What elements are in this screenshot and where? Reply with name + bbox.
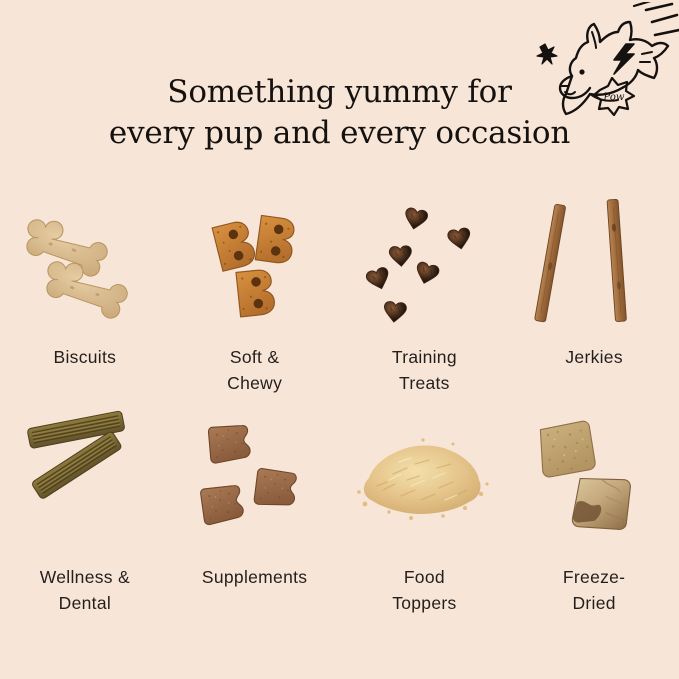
category-label: Freeze- Dried bbox=[563, 564, 625, 617]
chewy-b-treats-image bbox=[170, 196, 340, 336]
bone-biscuits-image bbox=[0, 196, 170, 336]
category-label: Soft & Chewy bbox=[227, 344, 282, 397]
category-item-jerkies[interactable]: Jerkies bbox=[509, 196, 679, 406]
category-label: Food Toppers bbox=[392, 564, 456, 617]
category-row-2: Wellness & Dental bbox=[0, 406, 679, 636]
dog-head-doodle: Pow bbox=[534, 2, 679, 127]
training-treats-image bbox=[340, 196, 510, 336]
category-item-training-treats[interactable]: Training Treats bbox=[340, 196, 510, 406]
category-item-wellness-dental[interactable]: Wellness & Dental bbox=[0, 406, 170, 636]
category-item-biscuits[interactable]: Biscuits bbox=[0, 196, 170, 406]
freeze-dried-pieces-image bbox=[509, 406, 679, 556]
category-label: Jerkies bbox=[565, 344, 623, 370]
category-item-soft-chewy[interactable]: Soft & Chewy bbox=[170, 196, 340, 406]
category-item-freeze-dried[interactable]: Freeze- Dried bbox=[509, 406, 679, 636]
category-label: Training Treats bbox=[392, 344, 457, 397]
product-category-graphic: Something yummy for every pup and every … bbox=[0, 0, 679, 679]
category-grid: Biscuits bbox=[0, 196, 679, 636]
category-label: Wellness & Dental bbox=[40, 564, 130, 617]
category-label: Biscuits bbox=[54, 344, 117, 370]
category-label: Supplements bbox=[202, 564, 307, 590]
jerky-sticks-image bbox=[509, 196, 679, 336]
supplement-chews-image bbox=[170, 406, 340, 556]
category-row-1: Biscuits bbox=[0, 196, 679, 406]
category-item-food-toppers[interactable]: Food Toppers bbox=[340, 406, 510, 636]
category-item-supplements[interactable]: Supplements bbox=[170, 406, 340, 636]
food-topper-powder-image bbox=[340, 406, 510, 556]
dental-sticks-image bbox=[0, 406, 170, 556]
pow-text: Pow bbox=[603, 92, 625, 103]
